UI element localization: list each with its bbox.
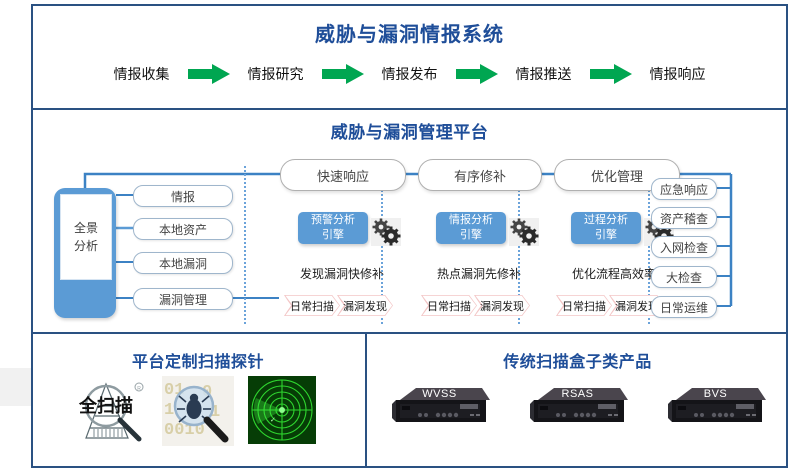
flow-step-4: 情报推送 bbox=[502, 64, 586, 84]
column-steps-0: 日常扫描 漏洞发现 bbox=[284, 295, 393, 316]
panorama-line2: 分析 bbox=[74, 239, 98, 253]
custom-probe-title: 平台定制扫描探针 bbox=[31, 348, 365, 372]
engine-box-intel-analysis[interactable]: 情报分析引擎 bbox=[436, 212, 506, 244]
traditional-appliance-panel: 传统扫描盒子类产品 WVSS RSAS bbox=[367, 334, 788, 468]
panorama-analysis-box[interactable]: 全景分析 bbox=[54, 188, 116, 318]
appliance-wvss: WVSS bbox=[390, 382, 490, 432]
step-chevron-0-1[interactable]: 漏洞发现 bbox=[337, 295, 393, 316]
appliance-label-0: WVSS bbox=[390, 388, 490, 400]
right-pill-emergency-response[interactable]: 应急响应 bbox=[651, 178, 717, 200]
column-header-label-2: 优化管理 bbox=[591, 166, 643, 185]
right-pill-label-2: 入网检查 bbox=[660, 239, 708, 256]
step-chevron-1-0[interactable]: 日常扫描 bbox=[421, 295, 477, 316]
flow-step-5: 情报响应 bbox=[636, 64, 720, 84]
flow-step-2: 情报研究 bbox=[234, 64, 318, 84]
platform-diagram: 全景分析 情报 本地资产 本地漏洞 漏洞管理 快速响应 有序修补 优化管理 预警… bbox=[31, 110, 788, 334]
left-gray-strip bbox=[0, 368, 31, 406]
step-label-0-1: 漏洞发现 bbox=[343, 298, 387, 314]
bug-magnifier-icon: 011 10010 01 bbox=[162, 376, 234, 448]
left-pill-label-0: 情报 bbox=[171, 188, 195, 205]
gears-icon-1 bbox=[371, 218, 401, 246]
appliance-list: WVSS RSAS bbox=[367, 382, 788, 432]
step-label-2-0: 日常扫描 bbox=[562, 298, 606, 314]
left-pill-label-3: 漏洞管理 bbox=[159, 291, 207, 308]
left-pill-intel[interactable]: 情报 bbox=[133, 185, 233, 207]
column-steps-2: 日常扫描 漏洞发现 bbox=[556, 295, 665, 316]
step-chevron-2-0[interactable]: 日常扫描 bbox=[556, 295, 612, 316]
column-caption-0: 发现漏洞快修补 bbox=[287, 265, 397, 282]
column-header-label-0: 快速响应 bbox=[317, 166, 369, 185]
svg-text:全扫描: 全扫描 bbox=[78, 395, 133, 416]
left-pill-label-1: 本地资产 bbox=[159, 221, 207, 238]
column-header-ordered-fix[interactable]: 有序修补 bbox=[418, 159, 542, 191]
panorama-line1: 全景 bbox=[74, 221, 98, 235]
step-label-1-0: 日常扫描 bbox=[427, 298, 471, 314]
left-pill-label-2: 本地漏洞 bbox=[159, 255, 207, 272]
column-steps-1: 日常扫描 漏洞发现 bbox=[421, 295, 530, 316]
appliance-label-2: BVS bbox=[666, 388, 766, 400]
arrow-right-icon-3 bbox=[456, 64, 498, 84]
engine-label-2a: 过程分析 bbox=[584, 214, 628, 226]
right-pill-label-0: 应急响应 bbox=[660, 181, 708, 198]
engine-label-0b: 引擎 bbox=[322, 229, 344, 241]
probe-thumbnails: 全扫描 R 011 10010 01 bbox=[31, 376, 365, 448]
step-label-1-1: 漏洞发现 bbox=[480, 298, 524, 314]
flow-step-1: 情报收集 bbox=[100, 64, 184, 84]
engine-label-1b: 引擎 bbox=[460, 229, 482, 241]
system-title: 威胁与漏洞情报系统 bbox=[31, 18, 788, 47]
panorama-analysis-label: 全景分析 bbox=[60, 194, 112, 280]
radar-scope-icon: ✓ bbox=[248, 376, 320, 448]
step-chevron-1-1[interactable]: 漏洞发现 bbox=[474, 295, 530, 316]
right-pill-label-3: 大检查 bbox=[666, 269, 702, 286]
arrow-right-icon-1 bbox=[188, 64, 230, 84]
left-pill-vuln-mgmt[interactable]: 漏洞管理 bbox=[133, 288, 233, 310]
intel-system-panel: 威胁与漏洞情报系统 情报收集 情报研究 情报发布 情报推送 情报响应 bbox=[31, 4, 788, 110]
svg-text:✓: ✓ bbox=[270, 417, 276, 424]
flow-step-3: 情报发布 bbox=[368, 64, 452, 84]
custom-probe-panel: 平台定制扫描探针 全扫描 R bbox=[31, 334, 367, 468]
traditional-appliance-title: 传统扫描盒子类产品 bbox=[367, 348, 788, 372]
engine-label-0a: 预警分析 bbox=[311, 214, 355, 226]
quanscan-logo-icon: 全扫描 R bbox=[76, 376, 148, 448]
column-caption-1: 热点漏洞先修补 bbox=[424, 265, 534, 282]
appliance-rsas: RSAS bbox=[528, 382, 628, 432]
intel-flow: 情报收集 情报研究 情报发布 情报推送 情报响应 bbox=[31, 64, 788, 84]
right-pill-asset-audit[interactable]: 资产稽查 bbox=[651, 207, 717, 229]
column-header-label-1: 有序修补 bbox=[454, 166, 506, 185]
engine-label-2b: 引擎 bbox=[595, 229, 617, 241]
engine-label-1a: 情报分析 bbox=[449, 214, 493, 226]
platform-panel: 威胁与漏洞管理平台 bbox=[31, 110, 788, 334]
engine-box-process-analysis[interactable]: 过程分析引擎 bbox=[571, 212, 641, 244]
right-pill-label-1: 资产稽查 bbox=[660, 210, 708, 227]
appliance-bvs: BVS bbox=[666, 382, 766, 432]
left-pill-local-vulns[interactable]: 本地漏洞 bbox=[133, 252, 233, 274]
left-pill-local-assets[interactable]: 本地资产 bbox=[133, 218, 233, 240]
gears-icon-2 bbox=[509, 218, 539, 246]
step-chevron-0-0[interactable]: 日常扫描 bbox=[284, 295, 340, 316]
right-pill-major-inspection[interactable]: 大检查 bbox=[651, 266, 717, 288]
column-header-fast-response[interactable]: 快速响应 bbox=[280, 159, 406, 191]
arrow-right-icon-4 bbox=[590, 64, 632, 84]
arrow-right-icon-2 bbox=[322, 64, 364, 84]
engine-box-early-warning[interactable]: 预警分析引擎 bbox=[298, 212, 368, 244]
right-pill-label-4: 日常运维 bbox=[660, 299, 708, 316]
right-pill-network-access-check[interactable]: 入网检查 bbox=[651, 236, 717, 258]
column-divider-1 bbox=[244, 166, 246, 324]
step-label-0-0: 日常扫描 bbox=[290, 298, 334, 314]
appliance-label-1: RSAS bbox=[528, 388, 628, 400]
right-pill-daily-ops[interactable]: 日常运维 bbox=[651, 296, 717, 318]
svg-text:R: R bbox=[137, 386, 141, 392]
